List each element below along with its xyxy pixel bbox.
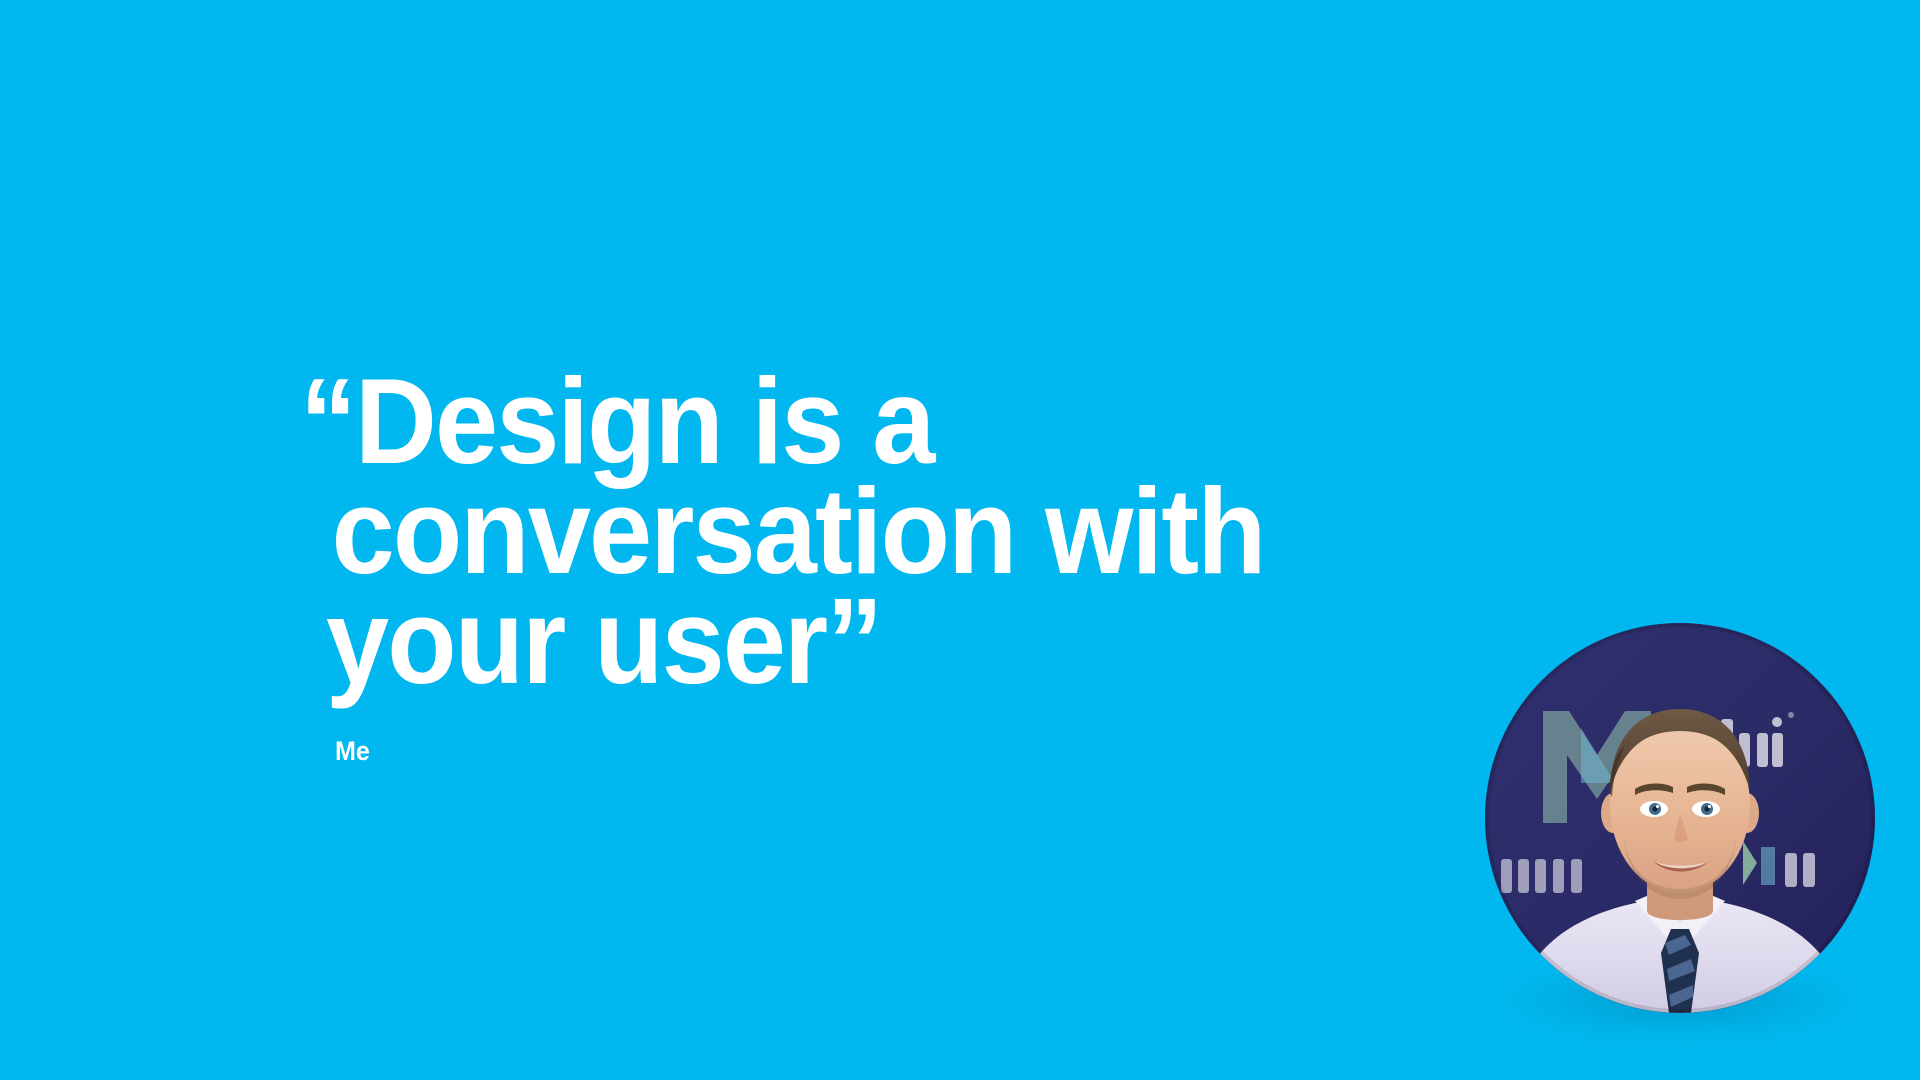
quote-attribution: Me <box>335 736 370 767</box>
quote-slide: “Design is a conversation with your user… <box>0 0 1920 1080</box>
quote-line-2: conversation with <box>300 476 1397 586</box>
quote-block: “Design is a conversation with your user… <box>300 366 1480 696</box>
portrait-image <box>1485 623 1875 1013</box>
portrait-avatar <box>1485 623 1875 1013</box>
quote-line-3: your user” <box>300 586 1397 696</box>
quote-line-1: “Design is a <box>300 366 1397 476</box>
